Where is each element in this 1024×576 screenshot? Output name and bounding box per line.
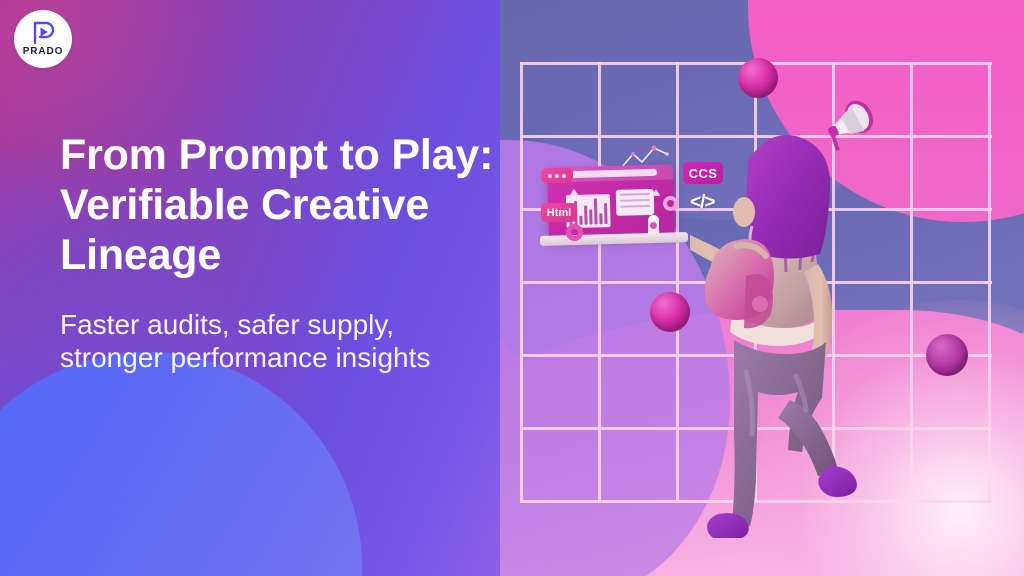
sphere-icon (926, 334, 968, 376)
browser-content-panel (616, 189, 655, 216)
html-badge: Html (541, 203, 577, 222)
sparkle-icon (569, 189, 579, 197)
character-3d-illustration (690, 118, 880, 538)
headline: From Prompt to Play: Verifiable Creative… (60, 130, 500, 280)
sphere-icon (738, 58, 778, 98)
marketing-banner: PRADO From Prompt to Play: Verifiable Cr… (0, 0, 1024, 576)
prado-play-mark-icon (31, 21, 55, 45)
chat-bubble-icon (541, 168, 573, 183)
brand-logo[interactable]: PRADO (14, 10, 72, 68)
copy-block: From Prompt to Play: Verifiable Creative… (60, 130, 500, 374)
donut-ring-icon (566, 224, 583, 241)
background-circle-bottom-left (0, 352, 362, 576)
sparkle-icon (651, 189, 660, 196)
brand-wordmark: PRADO (23, 47, 64, 57)
subheadline: Faster audits, safer supply, stronger pe… (60, 308, 500, 374)
donut-ring-icon (663, 196, 678, 211)
sphere-icon (650, 292, 690, 332)
